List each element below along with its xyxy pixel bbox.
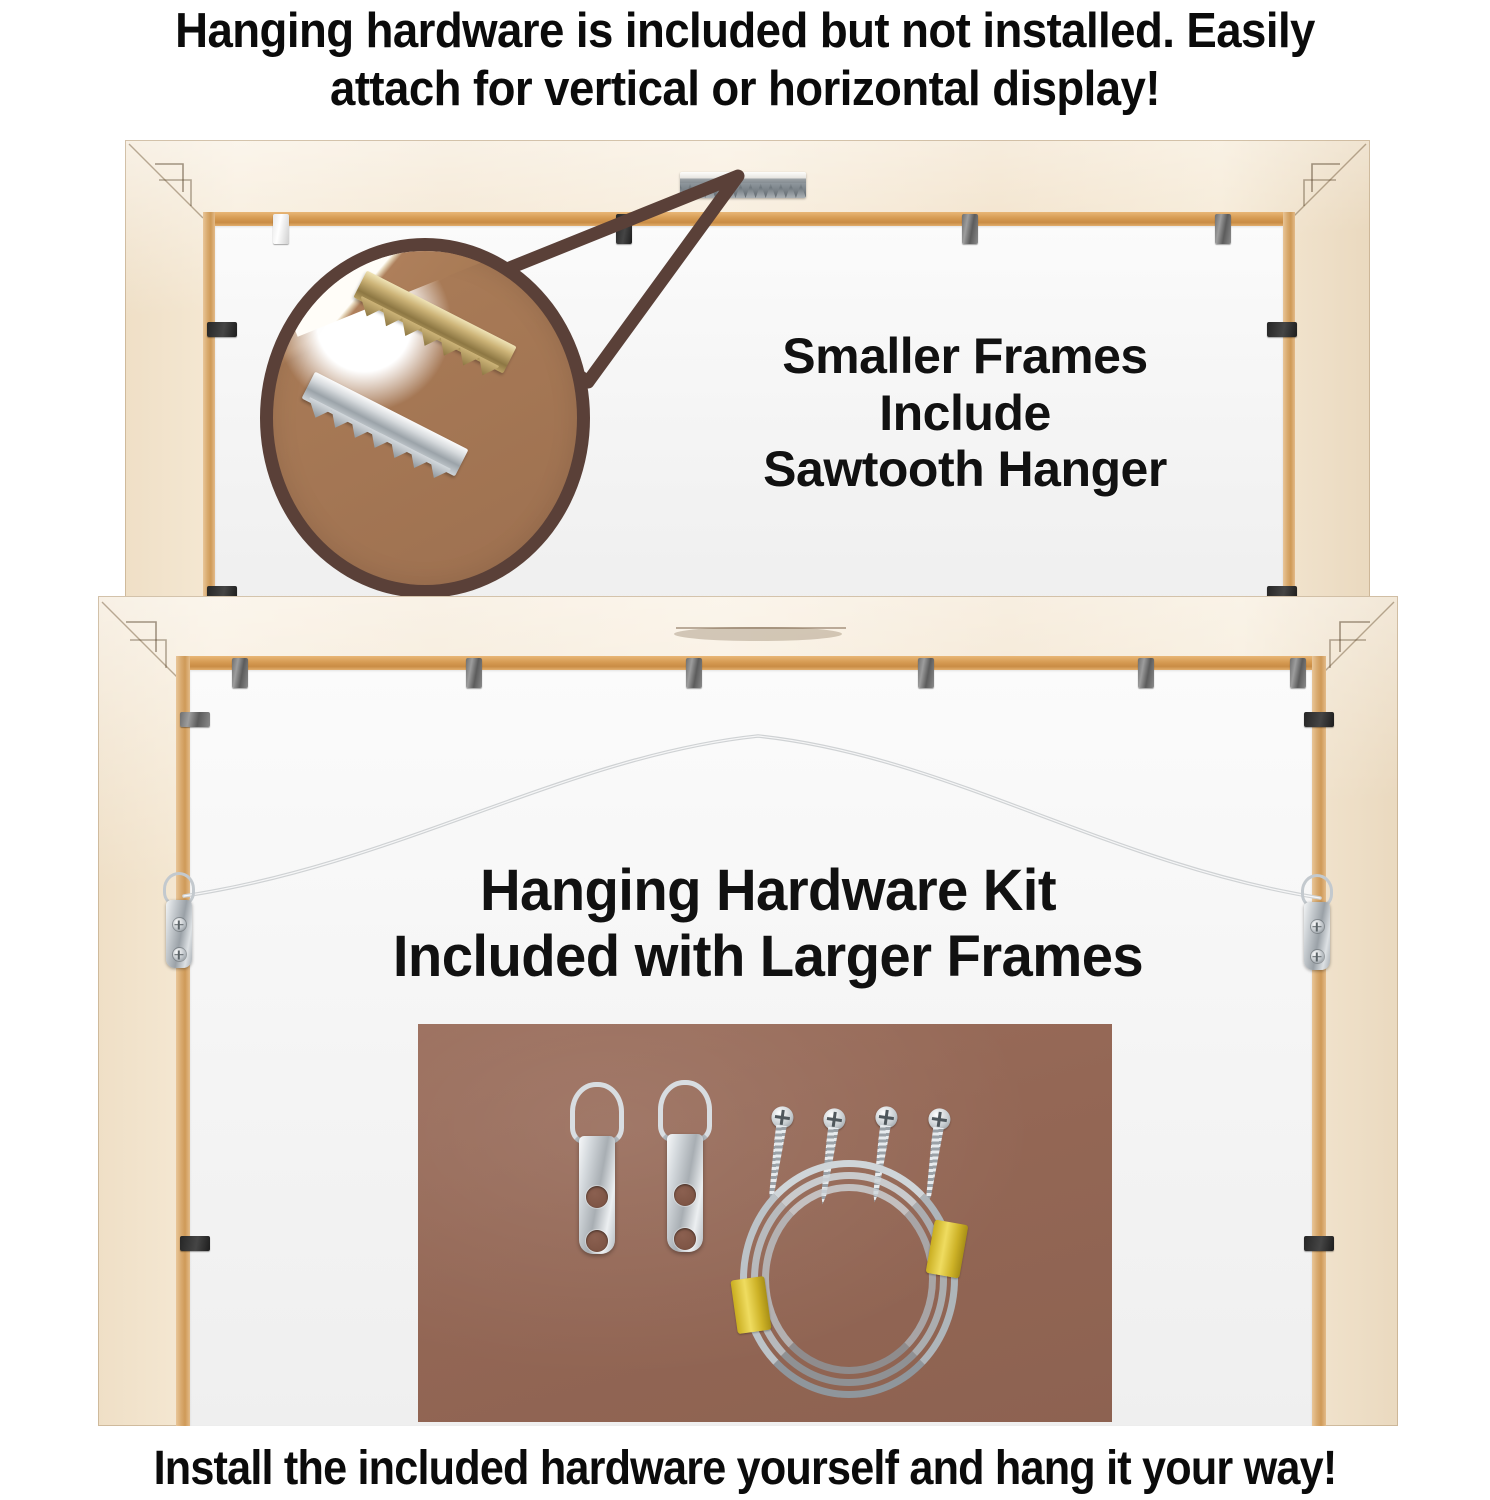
brass-sawtooth-hanger bbox=[353, 270, 516, 373]
kit-d-ring-hanger bbox=[656, 1080, 714, 1252]
d-ring-hanger-left bbox=[160, 872, 198, 968]
d-ring-hanger-right bbox=[1298, 874, 1336, 970]
headline-caption: Hanging hardware is included but not ins… bbox=[52, 2, 1438, 118]
smaller-frame-back: Smaller Frames Include Sawtooth Hanger bbox=[125, 140, 1370, 610]
hardware-kit-photo bbox=[418, 1024, 1112, 1422]
silver-sawtooth-hanger bbox=[302, 372, 469, 477]
kit-d-ring-hanger bbox=[568, 1082, 626, 1254]
smaller-frames-text: Smaller Frames Include Sawtooth Hanger bbox=[635, 328, 1295, 498]
sawtooth-hanger-magnifier bbox=[260, 238, 590, 598]
larger-frame-back: Hanging Hardware Kit Included with Large… bbox=[98, 596, 1398, 1426]
footer-caption: Install the included hardware yourself a… bbox=[75, 1442, 1416, 1496]
larger-frames-text: Hanging Hardware Kit Included with Large… bbox=[283, 858, 1253, 989]
kit-coiled-wire bbox=[740, 1160, 958, 1398]
wire-tape-band bbox=[730, 1276, 771, 1334]
